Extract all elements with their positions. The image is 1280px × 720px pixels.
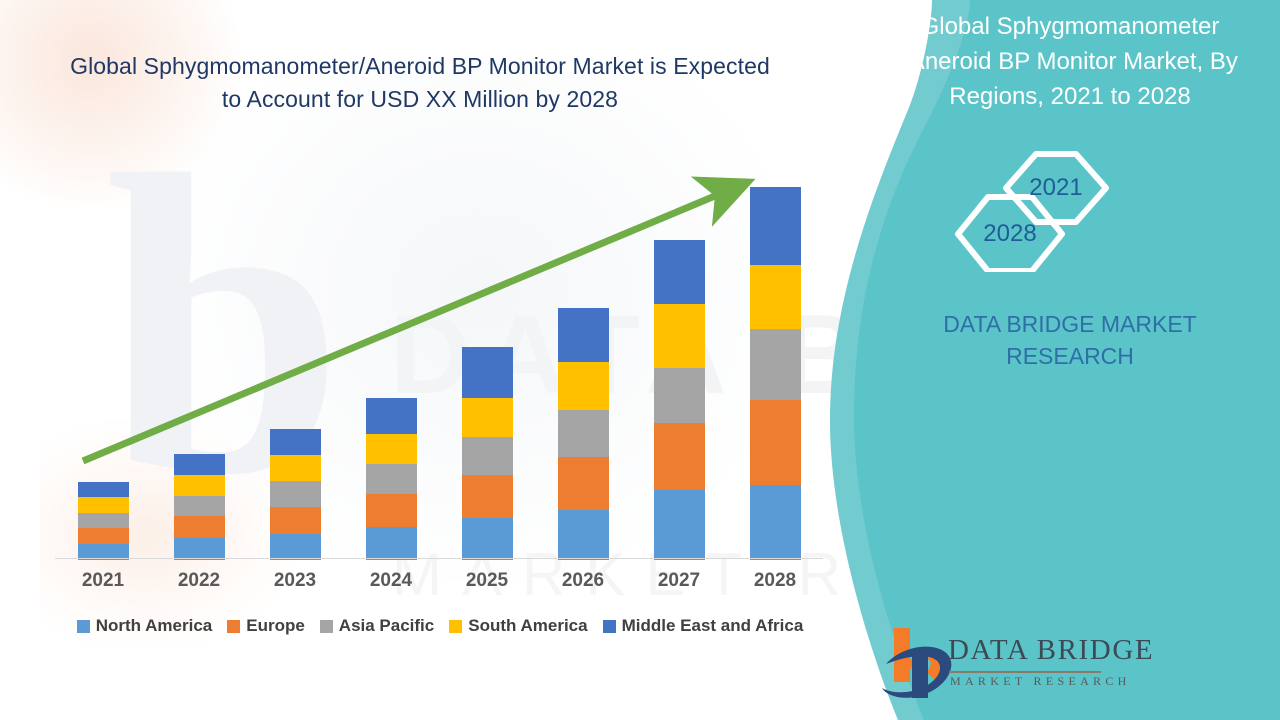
- panel-brand-line2: RESEARCH: [860, 340, 1280, 372]
- bar-segment: [462, 518, 513, 560]
- bar-2024: [366, 398, 417, 560]
- bar-segment: [654, 423, 705, 490]
- bar-segment: [750, 400, 801, 485]
- bar-segment: [270, 455, 321, 481]
- bar-2022: [174, 454, 225, 560]
- bar-segment: [558, 510, 609, 560]
- bar-segment: [174, 496, 225, 516]
- bar-segment: [366, 398, 417, 434]
- legend-label: Asia Pacific: [339, 616, 434, 636]
- bar-segment: [750, 329, 801, 400]
- x-axis-label-2021: 2021: [58, 570, 148, 592]
- bar-segment: [174, 516, 225, 538]
- dbmr-logo-name: DATA BRIDGE: [948, 634, 1154, 667]
- hexagon-label-2021: 2021: [1016, 174, 1096, 202]
- bar-2026: [558, 308, 609, 560]
- panel-brand-line1: DATA BRIDGE MARKET: [860, 308, 1280, 340]
- bar-segment: [654, 304, 705, 368]
- legend-label: Middle East and Africa: [622, 616, 804, 636]
- bar-segment: [270, 534, 321, 560]
- bar-segment: [654, 490, 705, 560]
- x-axis-label-2024: 2024: [346, 570, 436, 592]
- x-axis-label-2025: 2025: [442, 570, 532, 592]
- infographic-slide: b DATA BRIDGE MARKET RESEARCH Global Sph…: [0, 0, 1280, 720]
- bar-segment: [174, 475, 225, 496]
- dbmr-logo-tagline: MARKET RESEARCH: [950, 674, 1131, 689]
- legend-swatch-icon: [77, 620, 90, 633]
- bar-segment: [750, 187, 801, 265]
- chart-title: Global Sphygmomanometer/Aneroid BP Monit…: [70, 50, 770, 117]
- legend-label: North America: [96, 616, 213, 636]
- legend-item-north-america[interactable]: North America: [77, 616, 213, 636]
- bar-segment: [558, 308, 609, 362]
- bar-segment: [558, 410, 609, 457]
- bar-segment: [558, 457, 609, 510]
- bar-segment: [366, 434, 417, 464]
- legend-swatch-icon: [449, 620, 462, 633]
- legend-item-middle-east-and-africa[interactable]: Middle East and Africa: [603, 616, 804, 636]
- panel-brand-text: DATA BRIDGE MARKET RESEARCH: [860, 308, 1280, 372]
- bar-segment: [462, 437, 513, 475]
- legend-swatch-icon: [227, 620, 240, 633]
- bar-segment: [78, 497, 129, 513]
- hexagon-label-2028: 2028: [970, 220, 1050, 248]
- x-axis-label-2028: 2028: [730, 570, 820, 592]
- legend-item-south-america[interactable]: South America: [449, 616, 587, 636]
- x-axis-line: [55, 558, 823, 559]
- legend-label: South America: [468, 616, 587, 636]
- bar-2021: [78, 482, 129, 560]
- legend-swatch-icon: [320, 620, 333, 633]
- bar-segment: [174, 538, 225, 560]
- stacked-bar-chart-plot-area: [55, 150, 825, 560]
- bar-segment: [654, 240, 705, 304]
- legend-swatch-icon: [603, 620, 616, 633]
- hexagon-year-badges: 2021 2028: [860, 142, 1280, 272]
- bar-segment: [174, 454, 225, 475]
- bar-segment: [654, 368, 705, 423]
- bar-2027: [654, 240, 705, 560]
- bar-segment: [270, 429, 321, 455]
- x-axis-labels: 20212022202320242025202620272028: [55, 570, 823, 598]
- bar-segment: [750, 485, 801, 560]
- bar-segment: [270, 481, 321, 507]
- bar-2028: [750, 187, 801, 560]
- bar-segment: [78, 513, 129, 528]
- chart-legend: North AmericaEuropeAsia PacificSouth Ame…: [55, 616, 825, 636]
- x-axis-label-2026: 2026: [538, 570, 628, 592]
- legend-item-asia-pacific[interactable]: Asia Pacific: [320, 616, 434, 636]
- x-axis-label-2022: 2022: [154, 570, 244, 592]
- bar-2025: [462, 347, 513, 560]
- bar-segment: [366, 464, 417, 494]
- legend-item-europe[interactable]: Europe: [227, 616, 305, 636]
- x-axis-label-2023: 2023: [250, 570, 340, 592]
- bar-segment: [366, 494, 417, 527]
- bar-segment: [462, 475, 513, 518]
- bar-segment: [750, 265, 801, 329]
- legend-label: Europe: [246, 616, 305, 636]
- bar-segment: [270, 507, 321, 534]
- dbmr-logo-divider: [949, 671, 1101, 673]
- panel-title: Global Sphygmomanometer /Aneroid BP Moni…: [860, 10, 1280, 114]
- bar-segment: [366, 527, 417, 560]
- x-axis-label-2027: 2027: [634, 570, 724, 592]
- bar-segment: [78, 528, 129, 544]
- bar-segment: [78, 482, 129, 497]
- hexagons-svg: [860, 142, 1280, 272]
- bar-segment: [558, 362, 609, 410]
- bar-segment: [462, 398, 513, 437]
- bar-2023: [270, 429, 321, 560]
- dbmr-logo: DATA BRIDGE MARKET RESEARCH: [872, 620, 1122, 710]
- teal-panel-content: Global Sphygmomanometer /Aneroid BP Moni…: [860, 0, 1280, 720]
- bar-segment: [462, 347, 513, 398]
